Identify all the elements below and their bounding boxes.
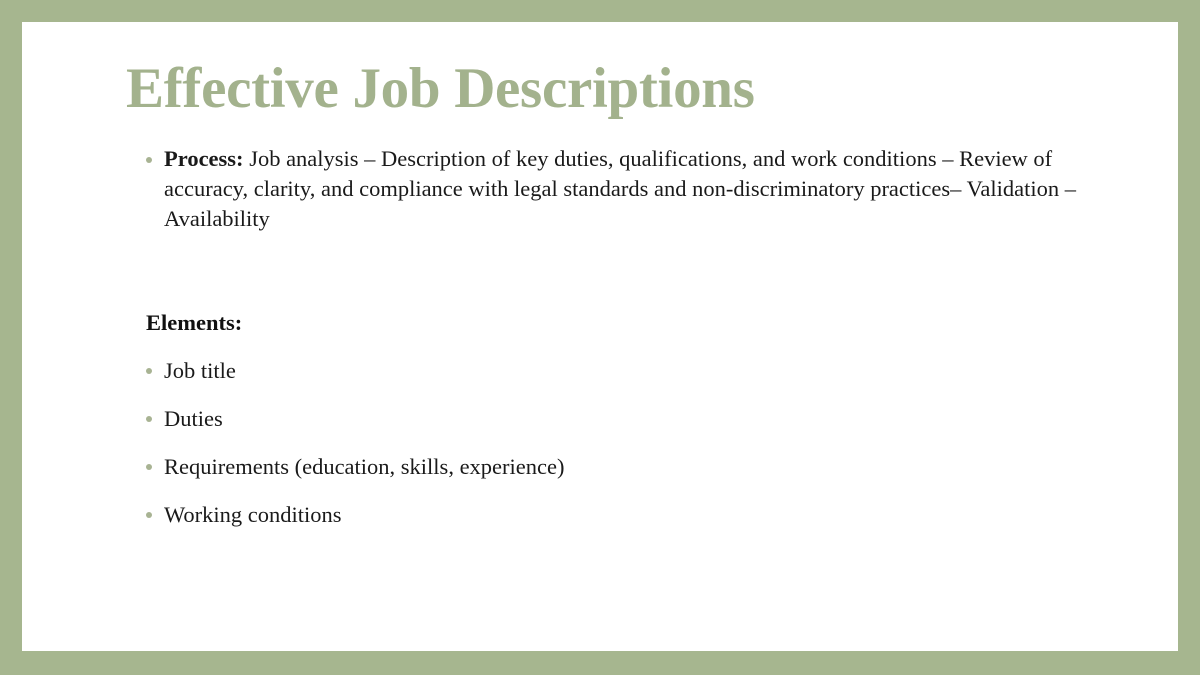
list-item: Requirements (education, skills, experie… — [126, 452, 1086, 500]
process-description: Job analysis – Description of key duties… — [164, 146, 1076, 231]
process-paragraph: Process: Job analysis – Description of k… — [164, 144, 1099, 234]
list-item-process: Process: Job analysis – Description of k… — [126, 144, 1086, 234]
elements-heading: Elements: — [146, 308, 1086, 338]
bullet-dot-icon — [146, 368, 152, 374]
list-item: Working conditions — [126, 500, 1086, 548]
bullet-dot-icon — [146, 464, 152, 470]
bullet-dot-icon — [146, 157, 152, 163]
elements-list: Job title Duties Requirements (education… — [126, 356, 1086, 548]
list-item-label: Requirements (education, skills, experie… — [164, 454, 565, 479]
page-title: Effective Job Descriptions — [126, 58, 1126, 120]
bullet-dot-icon — [146, 512, 152, 518]
list-item-label: Duties — [164, 406, 223, 431]
list-item: Duties — [126, 404, 1086, 452]
slide-body: Process: Job analysis – Description of k… — [126, 144, 1086, 548]
list-item-label: Working conditions — [164, 502, 342, 527]
bullet-dot-icon — [146, 416, 152, 422]
slide-content-panel: Effective Job Descriptions Process: Job … — [22, 22, 1178, 651]
slide-canvas: Effective Job Descriptions Process: Job … — [0, 0, 1200, 675]
list-item-label: Job title — [164, 358, 236, 383]
process-label: Process: — [164, 146, 244, 171]
list-item: Job title — [126, 356, 1086, 404]
